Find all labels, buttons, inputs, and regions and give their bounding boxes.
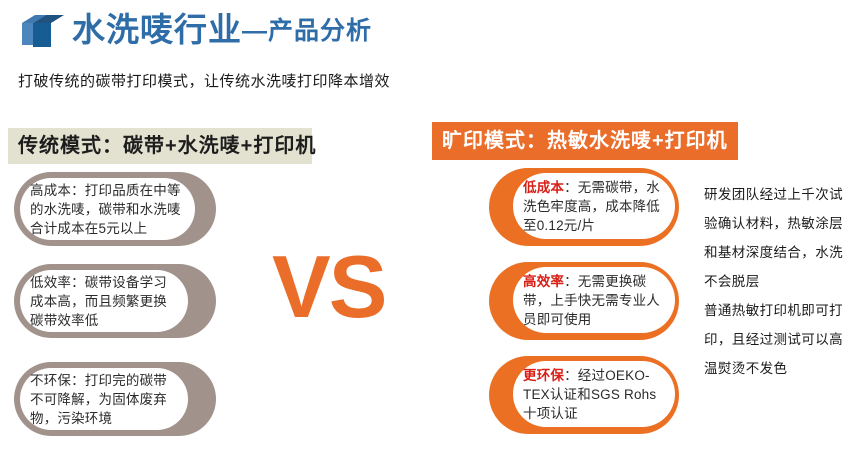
right-item-inner-2: 高效率：无需更换碳带，上手快无需专业人员即可使用: [513, 267, 675, 333]
page-title-main: 水洗唛行业: [72, 11, 242, 48]
right-item-lead-3: 更环保: [523, 368, 564, 383]
versus-label: VS: [272, 243, 385, 331]
page-subtitle: 打破传统的碳带打印模式，让传统水洗唛打印降本增效: [18, 70, 390, 91]
left-item-inner-3: 不环保：打印完的碳带不可降解，为固体废弃物，污染环境: [20, 368, 188, 430]
right-item-pill-3: 更环保：经过OEKO-TEX认证和SGS Rohs十项认证: [489, 356, 679, 434]
left-item-pill-2: 低效率：碳带设备学习成本高，而且频繁更换碳带效率低: [14, 264, 216, 338]
left-item-text-3: 不环保：打印完的碳带不可降解，为固体废弃物，污染环境: [20, 371, 188, 428]
page-title: 水洗唛行业—产品分析: [72, 8, 372, 53]
note-paragraph-1: 研发团队经过上千次试验确认材料，热敏涂层和基材深度结合，水洗不会脱层: [704, 180, 854, 296]
right-item-lead-1: 低成本: [523, 180, 564, 195]
right-item-lead-2: 高效率: [523, 274, 564, 289]
right-column-header: 旷印模式：热敏水洗唛+打印机: [432, 122, 738, 160]
note-paragraph-2: 普通热敏打印机即可打印，且经过测试可以高温熨烫不发色: [704, 296, 854, 383]
left-item-pill-1: 高成本：打印品质在中等的水洗唛，碳带和水洗唛合计成本在5元以上: [14, 172, 216, 246]
right-item-inner-3: 更环保：经过OEKO-TEX认证和SGS Rohs十项认证: [513, 361, 675, 427]
page-header: 水洗唛行业—产品分析: [0, 0, 857, 60]
left-item-text-1: 高成本：打印品质在中等的水洗唛，碳带和水洗唛合计成本在5元以上: [20, 181, 195, 238]
right-item-text-1: 低成本：无需碳带，水洗色牢度高，成本降低至0.12元/片: [513, 178, 675, 235]
left-column-header: 传统模式：碳带+水洗唛+打印机: [8, 128, 312, 164]
right-item-pill-1: 低成本：无需碳带，水洗色牢度高，成本降低至0.12元/片: [489, 168, 679, 246]
left-item-inner-1: 高成本：打印品质在中等的水洗唛，碳带和水洗唛合计成本在5元以上: [20, 178, 195, 240]
right-item-inner-1: 低成本：无需碳带，水洗色牢度高，成本降低至0.12元/片: [513, 173, 675, 239]
left-item-text-2: 低效率：碳带设备学习成本高，而且频繁更换碳带效率低: [20, 273, 188, 330]
right-item-text-2: 高效率：无需更换碳带，上手快无需专业人员即可使用: [513, 272, 675, 329]
left-item-pill-3: 不环保：打印完的碳带不可降解，为固体废弃物，污染环境: [14, 362, 216, 436]
right-item-text-3: 更环保：经过OEKO-TEX认证和SGS Rohs十项认证: [513, 366, 675, 423]
page-title-sub: —产品分析: [242, 17, 372, 45]
left-item-inner-2: 低效率：碳带设备学习成本高，而且频繁更换碳带效率低: [20, 270, 188, 332]
stacked-parallelogram-logo-icon: [22, 15, 66, 49]
right-item-pill-2: 高效率：无需更换碳带，上手快无需专业人员即可使用: [489, 262, 679, 340]
notes-block: 研发团队经过上千次试验确认材料，热敏涂层和基材深度结合，水洗不会脱层 普通热敏打…: [704, 180, 854, 383]
